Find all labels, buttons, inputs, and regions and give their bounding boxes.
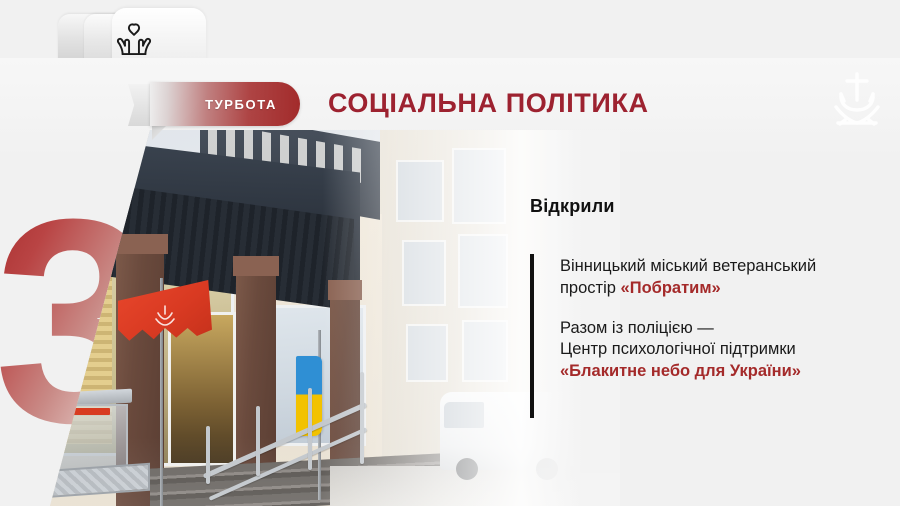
category-badge[interactable]: ТУРБОТА <box>128 78 300 130</box>
item-line-2: простір <box>560 279 621 297</box>
list-item: Вінницький міський ветеранський простір … <box>560 256 890 300</box>
item-line-1: Разом із поліцією — <box>560 319 714 337</box>
content-items: Вінницький міський ветеранський простір … <box>560 256 890 383</box>
content-kicker: Відкрили <box>530 196 615 217</box>
vinnytsia-coat-of-arms-icon <box>828 68 886 134</box>
item-line-2: Центр психологічної підтримки <box>560 340 796 358</box>
item-accent-1: «Побратим» <box>621 279 721 297</box>
content-accent-bar <box>530 254 534 418</box>
item-accent-2: «Блакитне небо для України» <box>560 362 801 380</box>
page-title: СОЦІАЛЬНА ПОЛІТИКА <box>328 88 649 119</box>
item-line-1: Вінницький міський ветеранський <box>560 257 816 275</box>
hands-holding-heart-icon <box>110 16 158 60</box>
list-item: Разом із поліцією — Центр психологічної … <box>560 318 890 383</box>
slide-root: 3 <box>0 0 900 506</box>
badge-body: ТУРБОТА <box>150 82 300 126</box>
badge-label: ТУРБОТА <box>173 97 277 112</box>
